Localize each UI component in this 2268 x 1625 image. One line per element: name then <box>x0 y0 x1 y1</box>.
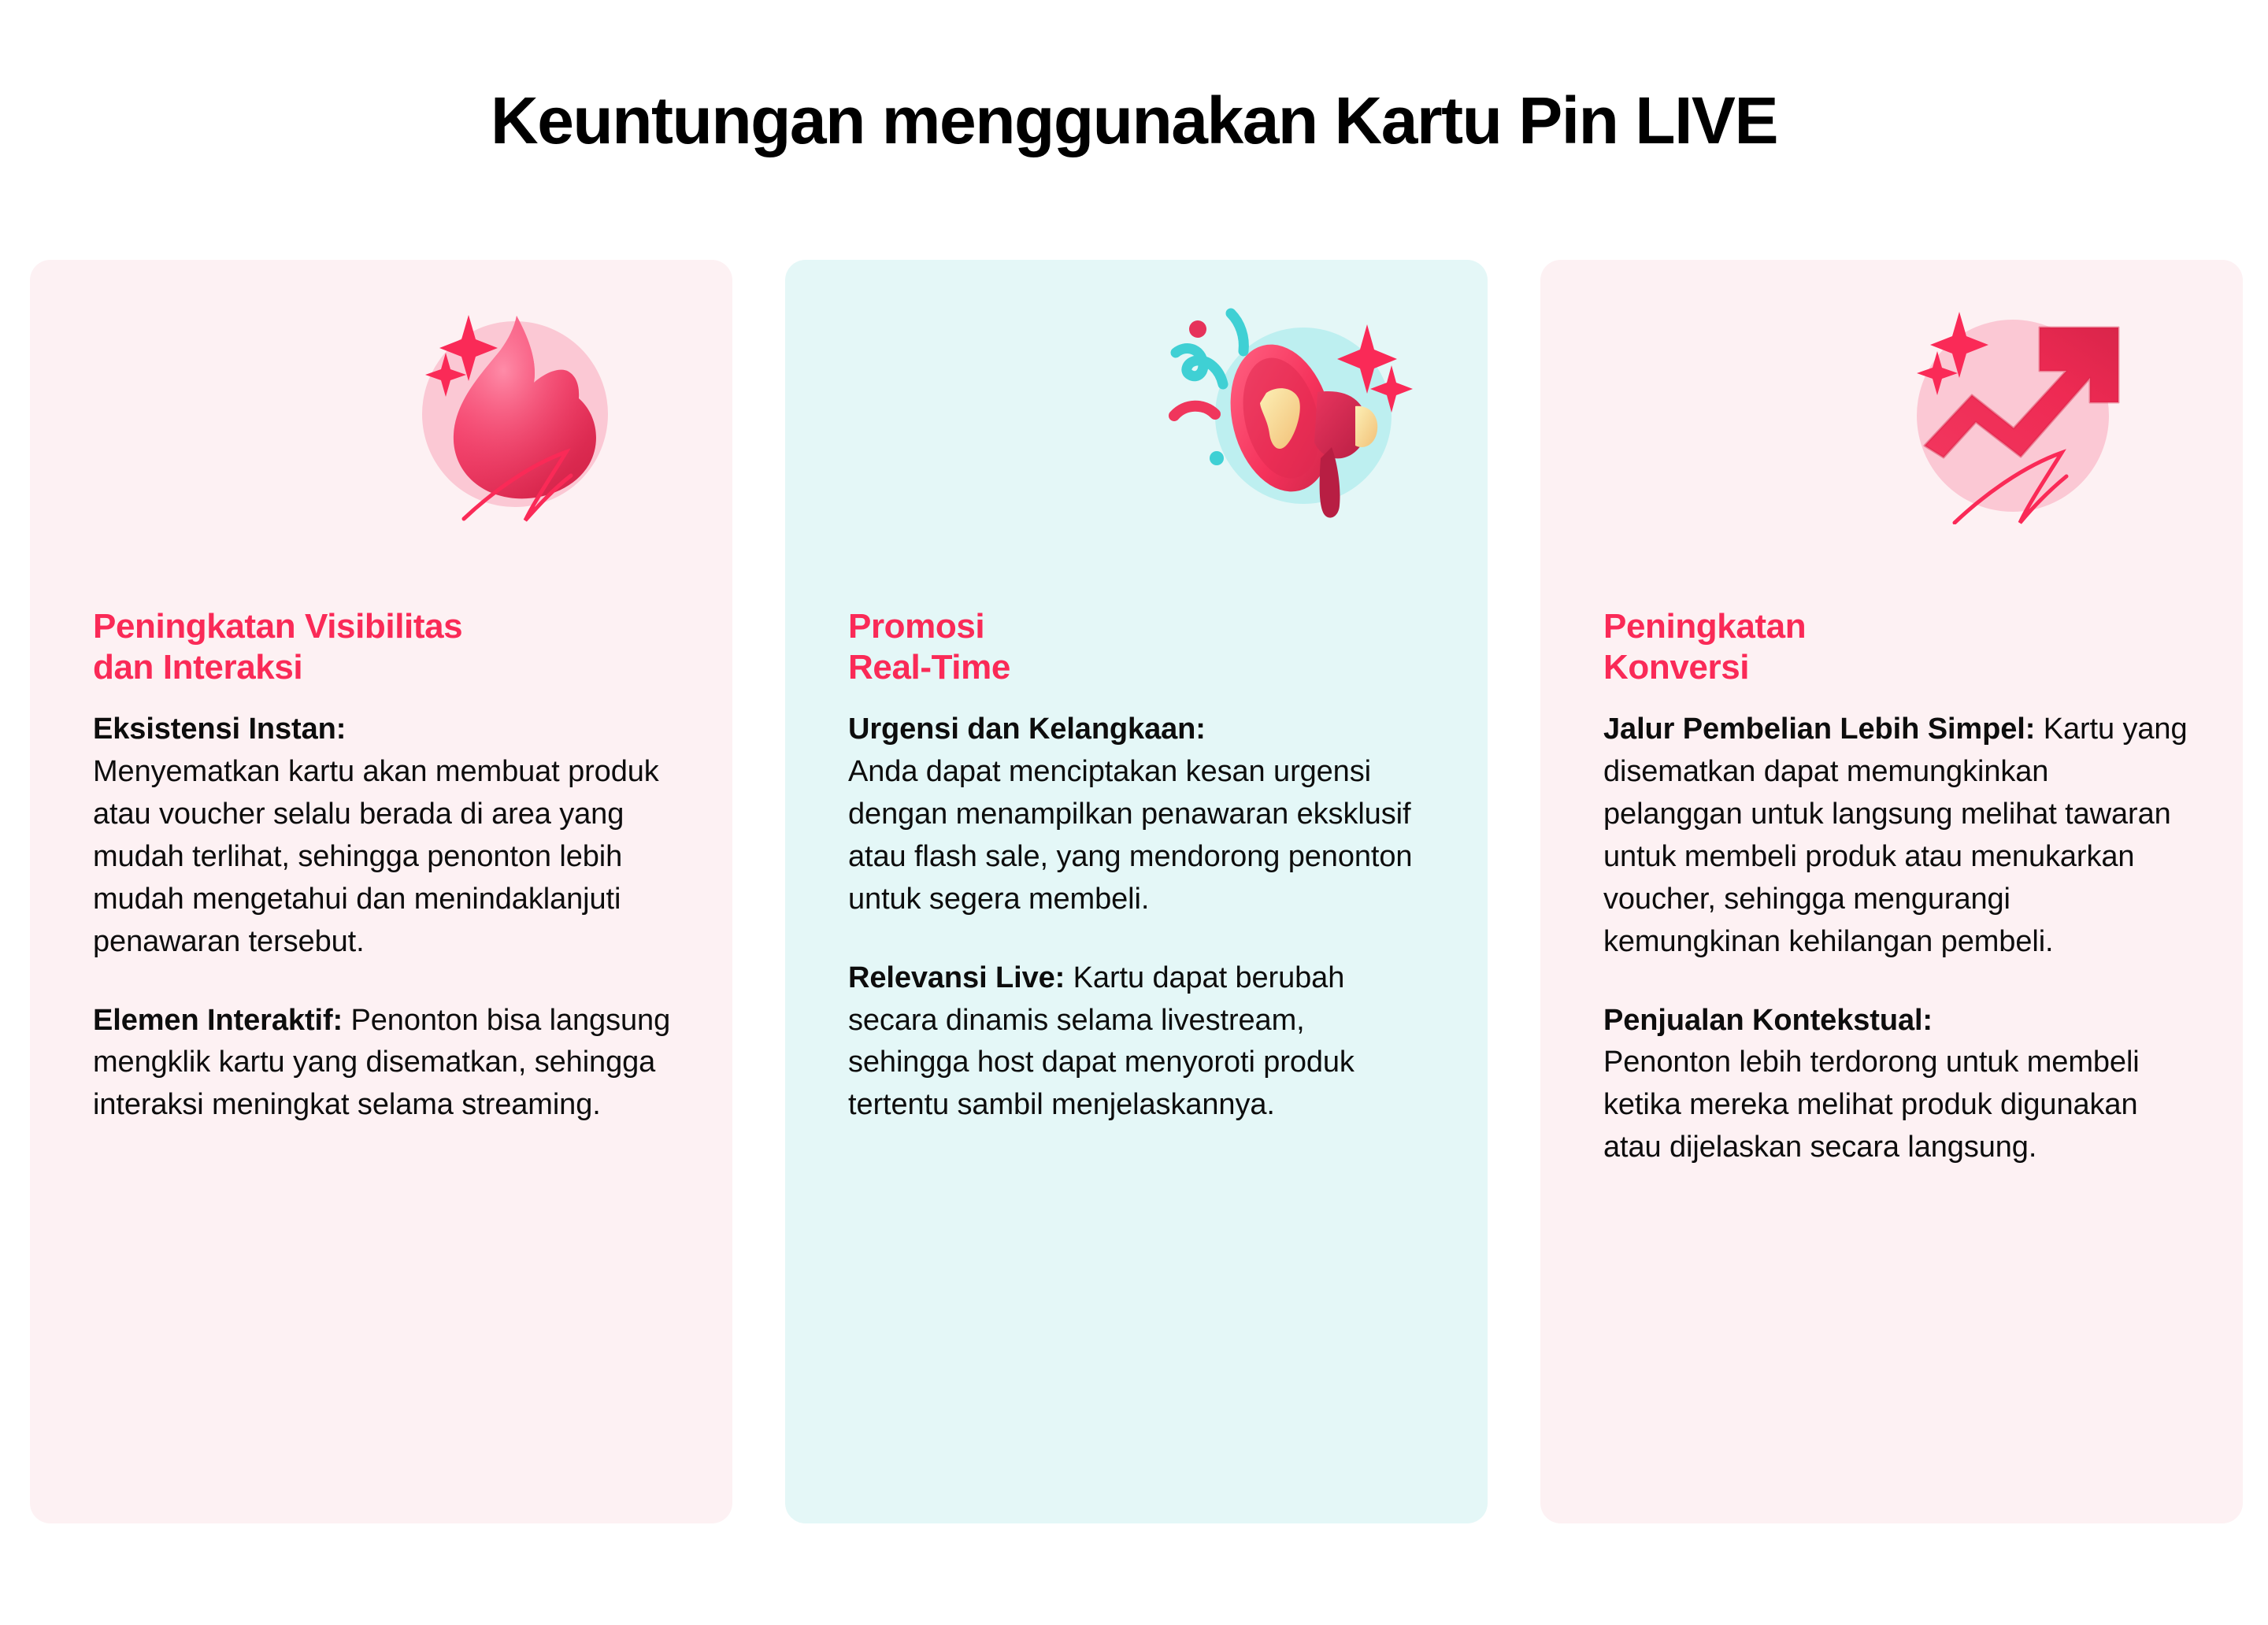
paragraph-lead: Relevansi Live: <box>848 961 1065 994</box>
card-paragraph: Relevansi Live: Kartu dapat berubah seca… <box>848 957 1432 1127</box>
card-heading: Promosi Real-Time <box>848 606 1432 688</box>
benefit-card-promotion: Promosi Real-Time Urgensi dan Kelangkaan… <box>785 260 1488 1523</box>
paragraph-lead: Jalur Pembelian Lebih Simpel: <box>1603 713 2035 746</box>
page-title: Keuntungan menggunakan Kartu Pin LIVE <box>0 85 2268 157</box>
card-paragraph: Eksistensi Instan: Menyematkan kartu aka… <box>93 709 677 964</box>
benefit-card-conversion: Peningkatan Konversi Jalur Pembelian Leb… <box>1540 260 2243 1523</box>
paragraph-text: Penonton lebih terdorong untuk membeli k… <box>1603 1046 2140 1164</box>
megaphone-confetti-icon <box>1163 296 1415 532</box>
card-heading: Peningkatan Visibilitas dan Interaksi <box>93 606 677 688</box>
paragraph-lead: Urgensi dan Kelangkaan: <box>848 713 1206 746</box>
paragraph-text: Menyematkan kartu akan membuat produk at… <box>93 755 659 958</box>
trending-up-arrow-sparkle-icon <box>1909 296 2137 524</box>
paragraph-lead: Eksistensi Instan: <box>93 713 346 746</box>
paragraph-text: Anda dapat menciptakan kesan urgensi den… <box>848 755 1412 916</box>
card-body: Peningkatan Visibilitas dan Interaksi Ek… <box>93 606 677 1127</box>
flame-sparkle-icon <box>398 296 627 524</box>
infographic-page: Keuntungan menggunakan Kartu Pin LIVE <box>0 0 2268 1625</box>
paragraph-lead: Penjualan Kontekstual: <box>1603 1004 1933 1037</box>
benefit-card-visibility: Peningkatan Visibilitas dan Interaksi Ek… <box>30 260 732 1523</box>
card-body: Peningkatan Konversi Jalur Pembelian Leb… <box>1603 606 2188 1169</box>
card-paragraph: Elemen Interaktif: Penonton bisa langsun… <box>93 1000 677 1127</box>
card-heading: Peningkatan Konversi <box>1603 606 2188 688</box>
card-body: Promosi Real-Time Urgensi dan Kelangkaan… <box>848 606 1432 1127</box>
paragraph-text: Kartu yang disematkan dapat memungkinkan… <box>1603 713 2188 958</box>
card-paragraph: Jalur Pembelian Lebih Simpel: Kartu yang… <box>1603 709 2188 964</box>
card-paragraph: Penjualan Kontekstual: Penonton lebih te… <box>1603 1000 2188 1170</box>
paragraph-lead: Elemen Interaktif: <box>93 1004 343 1037</box>
card-paragraph: Urgensi dan Kelangkaan: Anda dapat menci… <box>848 709 1432 921</box>
benefit-cards-row: Peningkatan Visibilitas dan Interaksi Ek… <box>30 260 2243 1523</box>
